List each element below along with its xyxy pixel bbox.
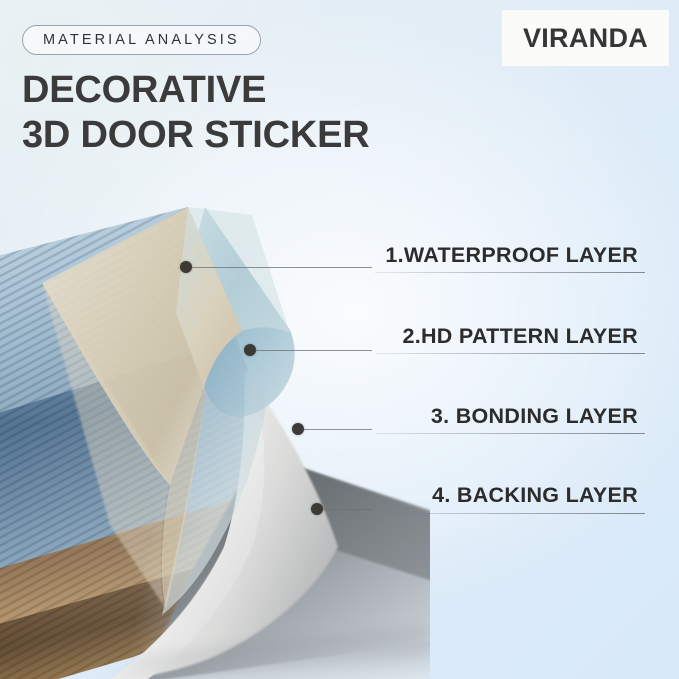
brand-name: VIRANDA <box>523 23 648 54</box>
material-analysis-infographic: MATERIAL ANALYSIS DECORATIVE 3D DOOR STI… <box>0 0 679 679</box>
material-analysis-badge: MATERIAL ANALYSIS <box>22 25 261 55</box>
callout-line-1 <box>192 267 372 268</box>
layer-4-rule <box>375 513 645 514</box>
layer-1-label: 1.WATERPROOF LAYER <box>385 243 638 268</box>
peeled-sticker-illustration <box>0 185 430 679</box>
callout-line-3 <box>304 429 372 430</box>
callout-dot-2 <box>244 344 256 356</box>
callout-line-4 <box>323 509 372 510</box>
title-line-2: 3D DOOR STICKER <box>22 113 369 158</box>
callout-dot-1 <box>180 261 192 273</box>
layer-3-label: 3. BONDING LAYER <box>431 404 638 429</box>
callout-dot-4 <box>311 503 323 515</box>
page-title: DECORATIVE 3D DOOR STICKER <box>22 68 369 158</box>
title-line-1: DECORATIVE <box>22 69 266 111</box>
layer-2-label: 2.HD PATTERN LAYER <box>402 324 638 349</box>
badge-label: MATERIAL ANALYSIS <box>43 32 240 48</box>
callout-dot-3 <box>292 423 304 435</box>
layer-3-rule <box>375 433 645 434</box>
layer-1-rule <box>375 272 645 273</box>
callout-line-2 <box>256 350 372 351</box>
layer-4-label: 4. BACKING LAYER <box>432 483 638 508</box>
brand-logo: VIRANDA <box>502 10 669 66</box>
header: MATERIAL ANALYSIS DECORATIVE 3D DOOR STI… <box>0 0 679 180</box>
layer-2-rule <box>375 353 645 354</box>
